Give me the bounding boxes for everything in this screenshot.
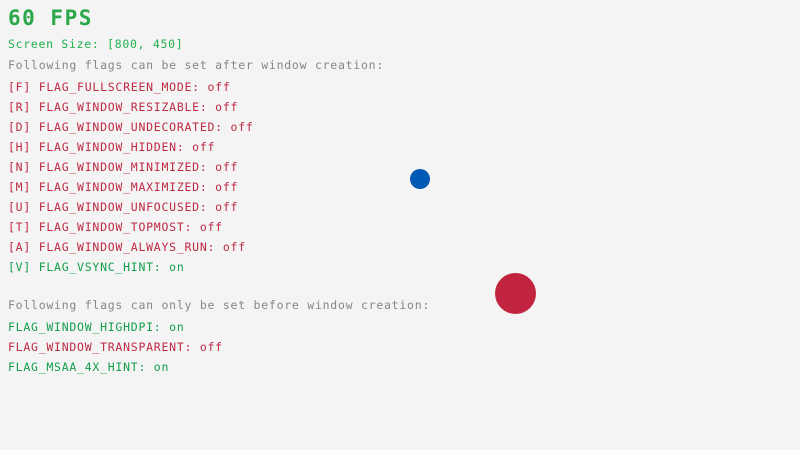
flag-row-msaa-4x-hint: FLAG_MSAA_4X_HINT: on (8, 360, 169, 374)
flag-row-window-transparent: FLAG_WINDOW_TRANSPARENT: off (8, 340, 223, 354)
flag-row-window-topmost[interactable]: [T] FLAG_WINDOW_TOPMOST: off (8, 220, 223, 234)
flag-row-window-undecorated[interactable]: [D] FLAG_WINDOW_UNDECORATED: off (8, 120, 254, 134)
flag-row-window-maximized[interactable]: [M] FLAG_WINDOW_MAXIMIZED: off (8, 180, 238, 194)
flag-row-vsync-hint[interactable]: [V] FLAG_VSYNC_HINT: on (8, 260, 185, 274)
app-canvas: 60 FPS Screen Size: [800, 450] Following… (0, 0, 800, 450)
flag-row-window-highdpi: FLAG_WINDOW_HIGHDPI: on (8, 320, 185, 334)
flag-row-fullscreen-mode[interactable]: [F] FLAG_FULLSCREEN_MODE: off (8, 80, 231, 94)
flag-row-window-resizable[interactable]: [R] FLAG_WINDOW_RESIZABLE: off (8, 100, 238, 114)
flag-row-window-always-run[interactable]: [A] FLAG_WINDOW_ALWAYS_RUN: off (8, 240, 246, 254)
creation-flags-header: Following flags can only be set before w… (8, 298, 430, 312)
flag-row-window-unfocused[interactable]: [U] FLAG_WINDOW_UNFOCUSED: off (8, 200, 238, 214)
runtime-flags-header: Following flags can be set after window … (8, 58, 384, 72)
bouncing-ball-blue (410, 169, 430, 189)
screen-size-readout: Screen Size: [800, 450] (8, 37, 183, 51)
flag-row-window-minimized[interactable]: [N] FLAG_WINDOW_MINIMIZED: off (8, 160, 238, 174)
flag-row-window-hidden[interactable]: [H] FLAG_WINDOW_HIDDEN: off (8, 140, 215, 154)
fps-counter: 60 FPS (8, 6, 93, 30)
bouncing-ball-red (495, 273, 536, 314)
